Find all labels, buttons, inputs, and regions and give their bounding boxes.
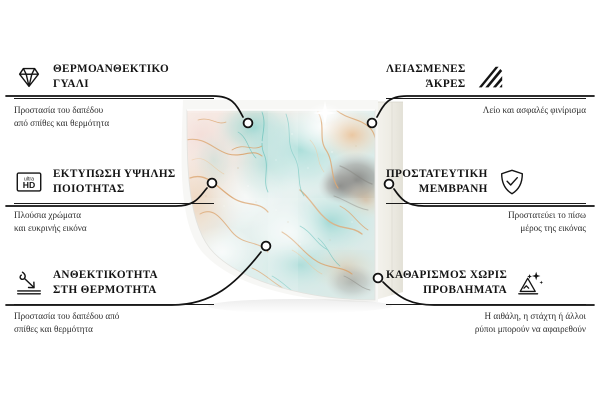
feature-easy-cleaning-rule xyxy=(386,304,586,305)
feature-protective-film-head: ΠΡΟΣΤΑΤΕΥΤΙΚΗ ΜΕΜΒΡΑΝΗ xyxy=(386,165,586,199)
feature-hd-print-rule xyxy=(14,203,214,204)
sparkle-clean-icon xyxy=(516,268,546,298)
feature-protective-film-title: ΠΡΟΣΤΑΤΕΥΤΙΚΗ ΜΕΜΒΡΑΝΗ xyxy=(386,167,488,197)
panel-shadow xyxy=(208,299,392,313)
feature-heat-resistance-head: ΑΝΘΕΚΤΙΚΟΤΗΤΑ ΣΤΗ ΘΕΡΜΟΤΗΤΑ xyxy=(14,266,214,300)
feature-smooth-edges-title: ΛΕΙΑΣΜΕΝΕΣ ΆΚΡΕΣ xyxy=(386,62,466,92)
shield-check-icon xyxy=(497,167,527,197)
feature-smooth-edges: ΛΕΙΑΣΜΕΝΕΣ ΆΚΡΕΣ Λείο και ασφαλές φινίρι… xyxy=(386,60,586,117)
feature-smooth-edges-head: ΛΕΙΑΣΜΕΝΕΣ ΆΚΡΕΣ xyxy=(386,60,586,94)
feature-easy-cleaning-head: ΚΑΘΑΡΙΣΜΟΣ ΧΩΡΙΣ ΠΡΟΒΛΗΜΑΤΑ xyxy=(386,266,586,300)
feature-heatproof-glass-rule xyxy=(14,98,214,99)
feature-hd-print-head: ultra HD ΕΚΤΥΠΩΣΗ ΥΨΗΛΗΣ ΠΟΙΟΤΗΤΑΣ xyxy=(14,165,214,199)
feature-callout-diagram: ΘΕΡΜΟΑΝΘΕΚΤΙΚΟ ΓΥΑΛΙ Προστασία του δαπέδ… xyxy=(0,0,600,400)
feature-protective-film: ΠΡΟΣΤΑΤΕΥΤΙΚΗ ΜΕΜΒΡΑΝΗ Προστατεύει το πί… xyxy=(386,165,586,235)
flame-deflect-icon xyxy=(14,268,44,298)
feature-heat-resistance-rule xyxy=(14,304,214,305)
feature-heatproof-glass-description: Προστασία του δαπέδου από σπίθες και θερ… xyxy=(14,104,214,130)
svg-text:HD: HD xyxy=(23,180,35,190)
feature-heatproof-glass: ΘΕΡΜΟΑΝΘΕΚΤΙΚΟ ΓΥΑΛΙ Προστασία του δαπέδ… xyxy=(14,60,214,130)
feature-heatproof-glass-head: ΘΕΡΜΟΑΝΘΕΚΤΙΚΟ ΓΥΑΛΙ xyxy=(14,60,214,94)
feature-smooth-edges-description: Λείο και ασφαλές φινίρισμα xyxy=(386,104,586,117)
feature-heat-resistance-title: ΑΝΘΕΚΤΙΚΟΤΗΤΑ ΣΤΗ ΘΕΡΜΟΤΗΤΑ xyxy=(53,268,158,298)
feature-easy-cleaning: ΚΑΘΑΡΙΣΜΟΣ ΧΩΡΙΣ ΠΡΟΒΛΗΜΑΤΑ Η αιθάλη, η … xyxy=(386,266,586,336)
ultra-hd-icon: ultra HD xyxy=(14,167,44,197)
feature-hd-print: ultra HD ΕΚΤΥΠΩΣΗ ΥΨΗΛΗΣ ΠΟΙΟΤΗΤΑΣ Πλούσ… xyxy=(14,165,214,235)
feature-smooth-edges-rule xyxy=(386,98,586,99)
feature-protective-film-rule xyxy=(386,203,586,204)
diagonal-stripes-icon xyxy=(475,62,505,92)
feature-easy-cleaning-title: ΚΑΘΑΡΙΣΜΟΣ ΧΩΡΙΣ ΠΡΟΒΛΗΜΑΤΑ xyxy=(386,268,507,298)
feature-easy-cleaning-description: Η αιθάλη, η στάχτη ή άλλοι ρύποι μπορούν… xyxy=(386,310,586,336)
feature-protective-film-description: Προστατεύει το πίσω μέρος της εικόνας xyxy=(386,209,586,235)
feature-hd-print-description: Πλούσια χρώματα και ευκρινής εικόνα xyxy=(14,209,214,235)
feature-heatproof-glass-title: ΘΕΡΜΟΑΝΘΕΚΤΙΚΟ ΓΥΑΛΙ xyxy=(53,62,169,92)
feature-hd-print-title: ΕΚΤΥΠΩΣΗ ΥΨΗΛΗΣ ΠΟΙΟΤΗΤΑΣ xyxy=(53,167,176,197)
feature-heat-resistance: ΑΝΘΕΚΤΙΚΟΤΗΤΑ ΣΤΗ ΘΕΡΜΟΤΗΤΑ Προστασία το… xyxy=(14,266,214,336)
feature-heat-resistance-description: Προστασία του δαπέδου από σπίθες και θερ… xyxy=(14,310,214,336)
diamond-icon xyxy=(14,62,44,92)
